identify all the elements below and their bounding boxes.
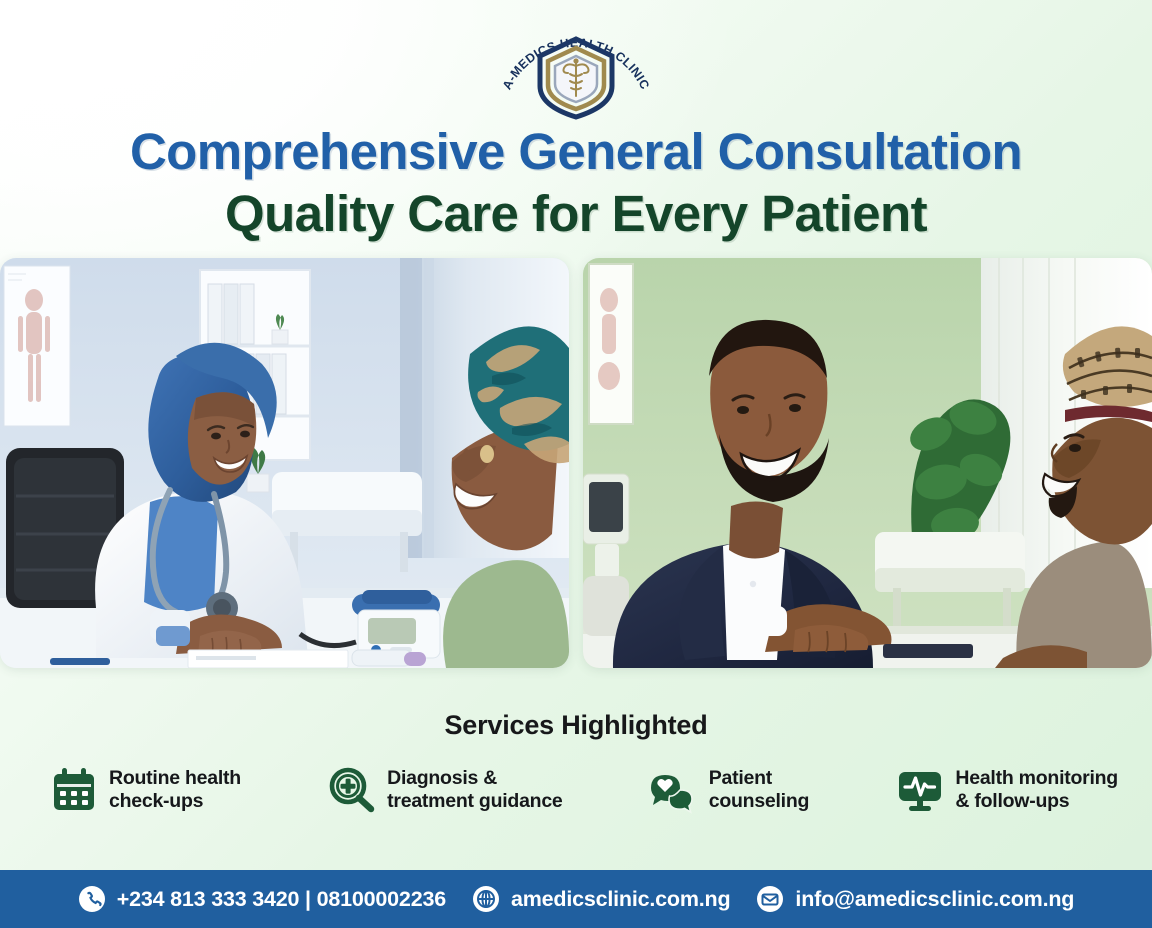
calendar-icon <box>50 766 98 814</box>
contact-phone[interactable]: +234 813 333 3420 | 08100002236 <box>78 885 446 913</box>
magnifier-plus-icon <box>328 766 376 814</box>
clinic-logo: A-MEDICS HEALTH CLINIC <box>0 6 1152 124</box>
contact-website[interactable]: amedicsclinic.com.ng <box>472 885 730 913</box>
service-item-diagnosis-treatment-guidance[interactable]: Diagnosis & treatment guidance <box>328 766 562 814</box>
headline-line-2: Quality Care for Every Patient <box>0 188 1152 239</box>
phone-icon <box>78 885 106 913</box>
caduceus-shield-icon <box>532 36 620 120</box>
chat-heart-icon <box>650 766 698 814</box>
service-item-patient-counseling[interactable]: Patient counseling <box>650 766 809 814</box>
male-doctor-consultation-photo <box>583 258 1152 668</box>
service-label: Health monitoring & follow-ups <box>955 767 1118 813</box>
email-address: info@amedicsclinic.com.ng <box>795 887 1074 912</box>
photo-gallery <box>0 258 1152 668</box>
service-item-health-monitoring-followups[interactable]: Health monitoring & follow-ups <box>896 766 1118 814</box>
services-list: Routine health check-ups Diagnosis & tre… <box>50 766 1118 814</box>
envelope-icon <box>756 885 784 913</box>
heartbeat-monitor-icon <box>896 766 944 814</box>
contact-footer: +234 813 333 3420 | 08100002236 amedicsc… <box>0 870 1152 928</box>
services-heading: Services Highlighted <box>0 710 1152 741</box>
page-title: Comprehensive General Consultation Quali… <box>0 126 1152 239</box>
service-label: Diagnosis & treatment guidance <box>387 767 562 813</box>
globe-icon <box>472 885 500 913</box>
headline-line-1: Comprehensive General Consultation <box>0 126 1152 177</box>
website-url: amedicsclinic.com.ng <box>511 887 730 912</box>
contact-email[interactable]: info@amedicsclinic.com.ng <box>756 885 1074 913</box>
phone-number: +234 813 333 3420 | 08100002236 <box>117 887 446 912</box>
service-item-routine-health-checkups[interactable]: Routine health check-ups <box>50 766 241 814</box>
service-label: Patient counseling <box>709 767 809 813</box>
female-doctor-consultation-photo <box>0 258 569 668</box>
promotional-banner: A-MEDICS HEALTH CLINIC Comprehensive Gen <box>0 0 1152 928</box>
service-label: Routine health check-ups <box>109 767 241 813</box>
